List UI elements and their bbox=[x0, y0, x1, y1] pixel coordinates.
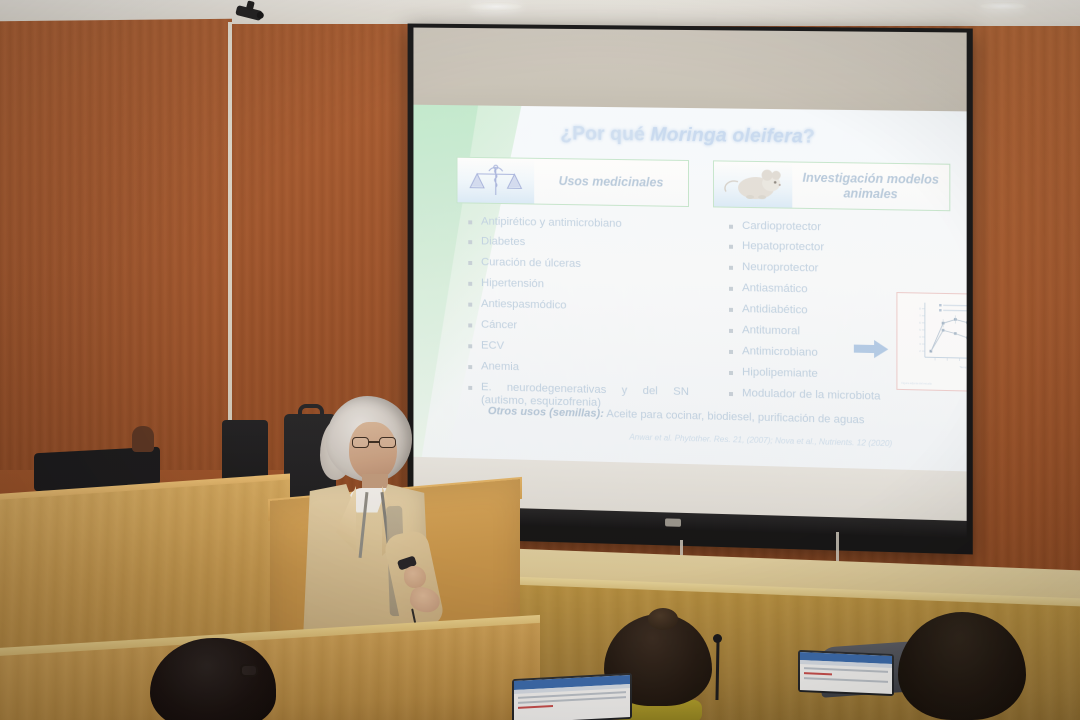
bullet-text: Antiespasmódico bbox=[481, 298, 689, 316]
svg-text:3: 3 bbox=[919, 342, 921, 346]
presenter-face bbox=[349, 422, 397, 480]
wall-panel-right bbox=[960, 26, 1080, 626]
svg-text:8: 8 bbox=[919, 307, 921, 311]
ceiling-light bbox=[470, 2, 522, 11]
presenter-glasses-icon bbox=[352, 437, 396, 449]
citation: Anwar et al. Phytother. Res. 21, (2007);… bbox=[551, 431, 967, 451]
bullet-marker-icon bbox=[729, 287, 733, 291]
column-header-medicinal: Usos medicinales bbox=[457, 157, 689, 207]
bullet-marker-icon bbox=[468, 385, 472, 389]
svg-text:Tiempo (min): Tiempo (min) bbox=[959, 365, 966, 369]
screen-center-nub bbox=[665, 518, 681, 526]
bullet-text: Hipertensión bbox=[481, 277, 689, 295]
bullet-marker-icon bbox=[468, 344, 472, 348]
laptop-screen bbox=[800, 652, 892, 694]
bullet-text: Neuroprotector bbox=[742, 261, 950, 279]
svg-text:6: 6 bbox=[919, 321, 921, 325]
inset-line-chart: 876 543 2 Tiempo (min) bbox=[903, 298, 967, 375]
column-animal-research: Investigación modelos animales Cardiopro… bbox=[713, 160, 950, 423]
bullet-marker-icon bbox=[468, 365, 472, 369]
bullet-marker-icon bbox=[729, 224, 733, 228]
column-header-animal: Investigación modelos animales bbox=[713, 160, 950, 211]
bullet-text: Antipirético y antimicrobiano bbox=[481, 215, 689, 232]
slide-title-prefix: ¿Por qué bbox=[560, 122, 650, 145]
bullet-text: Curación de úlceras bbox=[481, 257, 689, 274]
caduceus-scales-icon bbox=[457, 158, 534, 204]
projection-screen: ¿Por qué Moringa oleifera? bbox=[408, 24, 973, 555]
bullet-marker-icon bbox=[729, 350, 733, 354]
wall-panel-left bbox=[0, 19, 232, 491]
slide: ¿Por qué Moringa oleifera? bbox=[413, 105, 966, 492]
bullet-text: Diabetes bbox=[481, 236, 689, 253]
other-uses-label: Otros usos (semillas): bbox=[488, 405, 604, 420]
inset-caption: Figura adjunta del estudio bbox=[897, 382, 966, 389]
bullet-marker-icon bbox=[468, 282, 472, 286]
bullet-marker-icon bbox=[468, 323, 472, 327]
screen-unlit-top bbox=[413, 28, 966, 112]
laptop-screen bbox=[514, 675, 630, 720]
bullet-marker-icon bbox=[468, 303, 472, 307]
svg-text:2: 2 bbox=[919, 349, 921, 353]
student-front-center-bun bbox=[648, 608, 678, 630]
glasses-bridge bbox=[369, 441, 379, 443]
laptop-content-line bbox=[804, 677, 888, 683]
bullet-marker-icon bbox=[729, 392, 733, 396]
column-medicinal-uses: Usos medicinales Antipirético y antimicr… bbox=[457, 157, 689, 417]
laptop-right[interactable] bbox=[798, 650, 894, 696]
bullet-marker-icon bbox=[729, 266, 733, 270]
bullet-marker-icon bbox=[729, 329, 733, 333]
column-header-label: Investigación modelos animales bbox=[792, 162, 949, 210]
ceiling-light bbox=[980, 2, 1026, 10]
bullet-text: Cardioprotector bbox=[742, 220, 950, 237]
slide-columns: Usos medicinales Antipirético y antimicr… bbox=[457, 157, 951, 423]
projection-surface: ¿Por qué Moringa oleifera? bbox=[413, 28, 966, 539]
svg-text:7: 7 bbox=[919, 314, 921, 318]
student-front-left-glasses-icon bbox=[240, 664, 258, 677]
citation-text: Anwar et al. Phytother. Res. 21, (2007);… bbox=[629, 433, 892, 449]
laboratory-mouse-icon bbox=[714, 161, 792, 207]
inset-figure: 876 543 2 Tiempo (min) bbox=[896, 292, 966, 393]
bullet-marker-icon bbox=[729, 308, 733, 312]
slide-title-suffix: ? bbox=[803, 125, 815, 147]
bullet-marker-icon bbox=[468, 220, 472, 224]
chair-headrest bbox=[132, 426, 154, 452]
microphone-icon bbox=[713, 634, 722, 643]
bullet-list-medicinal: Antipirético y antimicrobiano Diabetes C… bbox=[457, 211, 689, 416]
glasses-lens-right bbox=[379, 437, 396, 448]
bullet-text: Hepatoprotector bbox=[742, 240, 950, 257]
slide-title-species: Moringa oleifera bbox=[650, 124, 802, 148]
bullet-marker-icon bbox=[729, 245, 733, 249]
arrow-right-icon bbox=[854, 340, 888, 359]
laptop-center[interactable] bbox=[512, 673, 632, 720]
bullet-text: ECV bbox=[481, 339, 689, 357]
svg-text:5: 5 bbox=[919, 328, 921, 332]
laptop-content-line bbox=[804, 672, 832, 675]
bullet-text: Cáncer bbox=[481, 319, 689, 337]
presenter-hand-upper bbox=[404, 566, 426, 588]
bullet-marker-icon bbox=[468, 261, 472, 265]
column-header-label: Usos medicinales bbox=[534, 159, 688, 206]
lecture-hall-scene: ¿Por qué Moringa oleifera? bbox=[0, 0, 1080, 720]
laptop-content-line bbox=[518, 705, 553, 709]
glasses-lens-left bbox=[352, 437, 369, 448]
bullet-marker-icon bbox=[729, 371, 733, 375]
svg-text:4: 4 bbox=[919, 335, 921, 339]
bullet-marker-icon bbox=[468, 241, 472, 245]
bullet-text: Anemia bbox=[481, 360, 689, 378]
